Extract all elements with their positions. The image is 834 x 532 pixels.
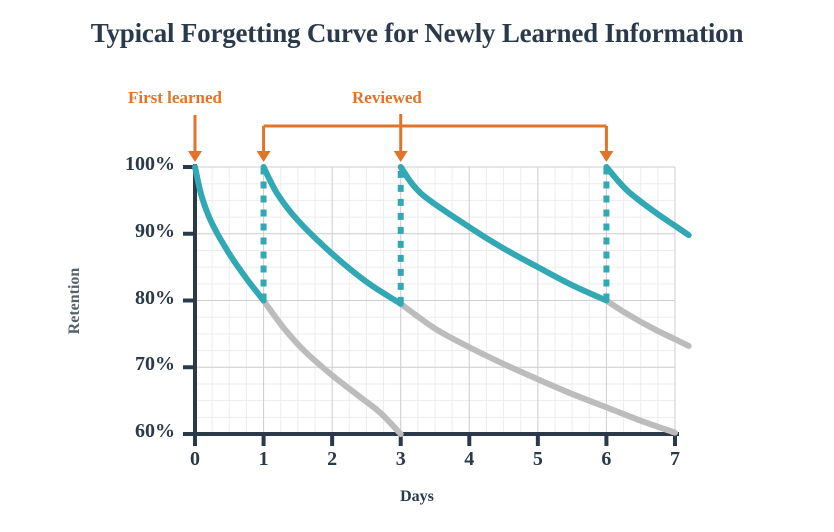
x-tick-label: 7 bbox=[660, 448, 690, 471]
y-tick-label: 70% bbox=[99, 353, 175, 376]
reviewed-arrow-2-head bbox=[599, 151, 613, 162]
unreviewed-decay-curve bbox=[606, 301, 688, 346]
chart-root: Typical Forgetting Curve for Newly Learn… bbox=[0, 0, 834, 532]
x-tick-label: 6 bbox=[591, 448, 621, 471]
x-tick-label: 0 bbox=[180, 448, 210, 471]
x-tick-label: 2 bbox=[317, 448, 347, 471]
y-tick-label: 80% bbox=[99, 287, 175, 310]
y-tick-label: 90% bbox=[99, 220, 175, 243]
forgetting-curve-plot bbox=[0, 0, 834, 532]
x-axis-title: Days bbox=[0, 488, 834, 506]
x-tick-label: 1 bbox=[249, 448, 279, 471]
y-tick-label: 60% bbox=[99, 420, 175, 443]
x-tick-label: 5 bbox=[523, 448, 553, 471]
annotation-reviewed: Reviewed bbox=[352, 88, 422, 108]
reviewed-arrow-0-head bbox=[257, 151, 271, 162]
first-learned-arrow-head bbox=[188, 151, 202, 162]
reviewed-arrow-1-head bbox=[394, 151, 408, 162]
annotation-arrows bbox=[188, 114, 613, 162]
reviewed-curve-segment bbox=[606, 167, 688, 235]
annotation-first-learned: First learned bbox=[128, 88, 222, 108]
y-tick-label: 100% bbox=[99, 153, 175, 176]
y-axis-title: Retention bbox=[66, 221, 84, 381]
x-tick-label: 3 bbox=[386, 448, 416, 471]
x-tick-label: 4 bbox=[454, 448, 484, 471]
